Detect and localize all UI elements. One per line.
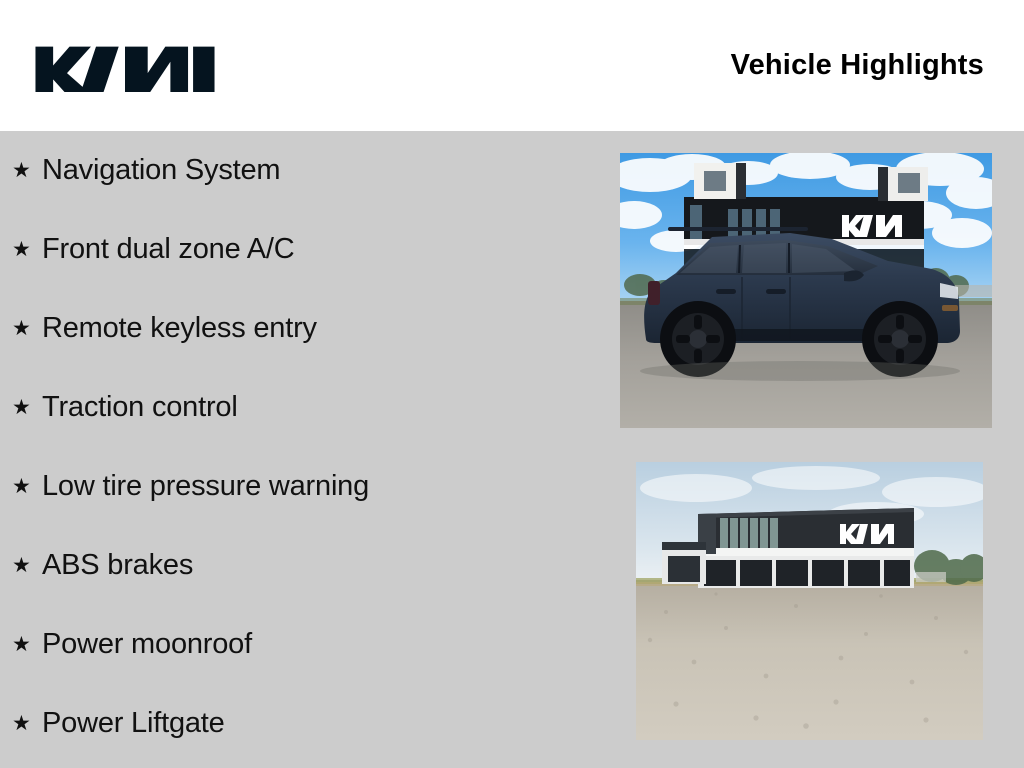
list-item: ★ Navigation System [0,131,600,210]
highlight-label: ABS brakes [42,549,600,582]
list-item: ★ ABS brakes [0,526,600,605]
kia-logo[interactable] [30,34,220,92]
highlight-label: Front dual zone A/C [42,233,600,266]
list-item: ★ Power Liftgate [0,684,600,763]
star-icon: ★ [12,397,42,418]
list-item: ★ Traction control [0,368,600,447]
star-icon: ★ [12,318,42,339]
dealership-photo[interactable] [636,462,983,740]
page-content: ★ Navigation System ★ Front dual zone A/… [0,131,1024,768]
highlight-label: Traction control [42,391,600,424]
highlight-label: Low tire pressure warning [42,470,600,503]
list-item: ★ Power moonroof [0,605,600,684]
vehicle-photo[interactable] [620,153,992,428]
star-icon: ★ [12,713,42,734]
star-icon: ★ [12,239,42,260]
vehicle-highlights-list: ★ Navigation System ★ Front dual zone A/… [0,131,600,763]
page-header: Vehicle Highlights [0,0,1024,131]
list-item: ★ Front dual zone A/C [0,210,600,289]
highlight-label: Navigation System [42,154,600,187]
list-item: ★ Remote keyless entry [0,289,600,368]
highlight-label: Power Liftgate [42,707,600,740]
star-icon: ★ [12,634,42,655]
star-icon: ★ [12,160,42,181]
star-icon: ★ [12,476,42,497]
star-icon: ★ [12,555,42,576]
list-item: ★ Low tire pressure warning [0,447,600,526]
highlight-label: Remote keyless entry [42,312,600,345]
highlight-label: Power moonroof [42,628,600,661]
page-title: Vehicle Highlights [731,49,984,82]
slide-page: Vehicle Highlights ★ Navigation System ★… [0,0,1024,768]
